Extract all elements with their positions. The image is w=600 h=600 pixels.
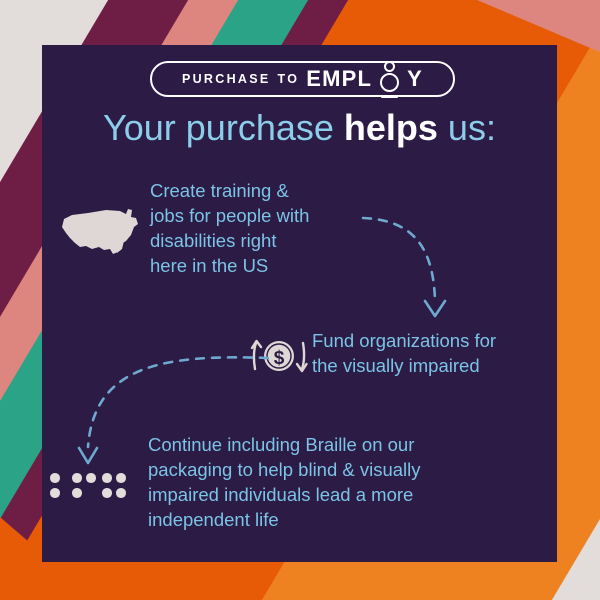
person-head [384,61,395,72]
braille-dot [116,473,126,483]
dashed-arrow-one [355,200,470,330]
badge-word-purchase: PURCHASE [182,72,271,86]
badge-word-to: TO [278,72,300,86]
braille-dot [86,473,96,483]
arrow-two-head [79,448,97,463]
row-2-text: Fund organizations for the visually impa… [312,328,552,378]
coin-dollar-glyph: $ [274,348,285,369]
page-title: Your purchase helps us: [42,108,557,148]
headline-part-2: us: [438,107,496,148]
braille-dot [72,488,82,498]
braille-dot [116,488,126,498]
badge-label: PURCHASE TO EMPL Y [150,61,455,97]
arrow-one-path [363,218,435,300]
us-map-icon [58,205,144,259]
person-base-bar [381,95,398,98]
arrow-down-stem [302,343,304,369]
poster-canvas: PURCHASE TO EMPL Y Your purchase helps u… [0,0,600,600]
row-3-text: Continue including Braille on our packag… [148,432,498,532]
person-body-ring [380,73,399,92]
braille-dots-icon [50,473,128,501]
braille-dot [102,488,112,498]
braille-dot [72,473,82,483]
arrow-one-head [425,301,445,316]
row-1-text: Create training & jobs for people with d… [150,178,380,278]
badge-letter-y: Y [407,68,423,90]
headline-part-1: Your purchase [103,107,344,148]
braille-dot [50,488,60,498]
purchase-to-employ-badge: PURCHASE TO EMPL Y [150,61,455,97]
person-icon [379,66,400,93]
badge-word-employ: EMPL [306,68,372,90]
braille-dot [50,473,60,483]
headline-bold-word: helps [344,107,438,148]
braille-dot [102,473,112,483]
